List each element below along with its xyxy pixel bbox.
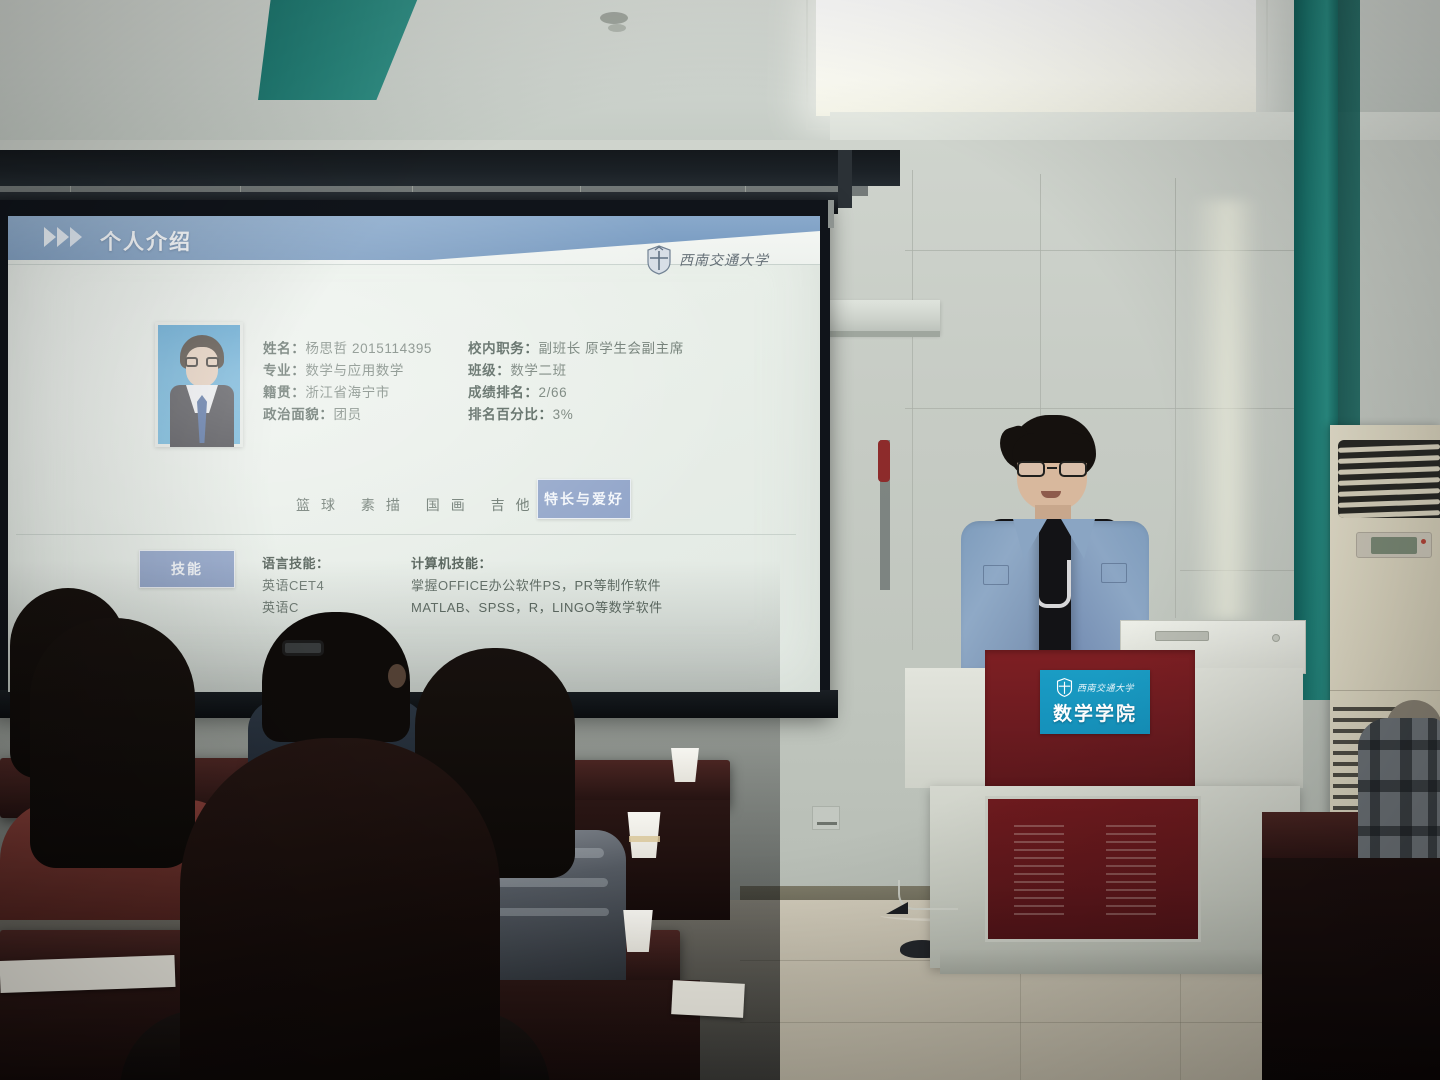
ac-top-grille-icon: [1338, 440, 1440, 518]
wall-dark-recess-band: [0, 150, 900, 186]
podium-front-panel: [985, 796, 1201, 942]
language-skills-heading: 语言技能：: [262, 553, 330, 575]
slide-divider: [16, 534, 796, 535]
glasses-icon: [185, 357, 219, 367]
swjtu-shield-logo: [1056, 678, 1073, 697]
podium-sign-department: 数学学院: [1053, 699, 1137, 726]
computer-skills-heading: 计算机技能：: [411, 553, 663, 575]
computer-skills-line: MATLAB、SPSS，R，LINGO等数学软件: [411, 597, 663, 619]
double-chevron-icon: [44, 227, 82, 247]
screen-arm-clamp: [878, 440, 890, 482]
university-mark: 西南交通大学: [646, 245, 769, 275]
lecture-hall-photo: 个人介绍 西南交通大学 姓名：杨思哲 2015114395 专业：数学与应用数学…: [0, 0, 1440, 1080]
info-row: 政治面貌：团员: [263, 404, 432, 426]
podium-handle[interactable]: [1155, 631, 1209, 641]
ceiling-light-panel: [816, 0, 1256, 116]
desk-front-panel-right: [1262, 858, 1440, 1080]
info-row: 成绩排名：2/66: [468, 382, 684, 404]
glasses-icon: [1015, 461, 1089, 477]
info-row: 排名百分比：3%: [468, 404, 684, 426]
info-row: 姓名：杨思哲 2015114395: [263, 338, 432, 360]
audience-member-left-long-hair: [30, 618, 195, 868]
screen-pull-handle[interactable]: [828, 200, 834, 228]
info-row: 籍贯：浙江省海宁市: [263, 382, 432, 404]
podium-panel-text-right: [1106, 825, 1156, 921]
wall-panel-seam: [1175, 178, 1176, 618]
podium-sign: 西南交通大学 数学学院: [1040, 670, 1150, 734]
info-row: 校内职务：副班长 原学生会副主席: [468, 338, 684, 360]
info-row: 班级：数学二班: [468, 360, 684, 382]
university-name: 西南交通大学: [679, 250, 769, 270]
wall-panel-seam: [912, 170, 913, 650]
tshirt-graphic: [1035, 560, 1071, 608]
podium-base: [940, 950, 1292, 974]
handout-paper[interactable]: [0, 955, 176, 993]
skills-badge: 技能: [139, 550, 235, 588]
smoke-detector-shadow: [608, 24, 626, 32]
ac-panel-seam: [1330, 690, 1440, 691]
podium-sign-university: 西南交通大学: [1077, 681, 1134, 694]
wall-light-glow: [1190, 200, 1260, 620]
computer-skills-line: 掌握OFFICE办公软件PS，PR等制作软件: [411, 575, 663, 597]
audience-member-front-center: [180, 738, 500, 1080]
podium-panel-text-left: [1014, 825, 1064, 921]
slide-title: 个人介绍: [100, 226, 192, 256]
podium-lock-icon[interactable]: [1272, 634, 1280, 642]
podium-top-right: [1195, 668, 1303, 788]
handout-paper[interactable]: [671, 980, 745, 1018]
language-skills-column: 语言技能： 英语CET4 英语C: [262, 553, 330, 619]
language-skills-line: 英语CET4: [262, 575, 330, 597]
info-column-left: 姓名：杨思哲 2015114395 专业：数学与应用数学 籍贯：浙江省海宁市 政…: [263, 338, 432, 426]
computer-skills-column: 计算机技能： 掌握OFFICE办公软件PS，PR等制作软件 MATLAB、SPS…: [411, 553, 663, 619]
swjtu-shield-logo: [646, 245, 672, 275]
info-column-right: 校内职务：副班长 原学生会副主席 班级：数学二班 成绩排名：2/66 排名百分比…: [468, 338, 684, 426]
screen-mount-hook: [838, 150, 852, 208]
ac-power-led-icon: [1421, 539, 1426, 544]
ac-control-display[interactable]: [1356, 532, 1432, 558]
hobbies-badge: 特长与爱好: [537, 479, 631, 519]
info-row: 专业：数学与应用数学: [263, 360, 432, 382]
id-photo: [155, 322, 243, 447]
glasses-icon: [282, 640, 324, 656]
smoke-detector-icon: [600, 12, 628, 24]
ear: [388, 664, 406, 688]
power-outlet-icon[interactable]: [812, 806, 840, 830]
